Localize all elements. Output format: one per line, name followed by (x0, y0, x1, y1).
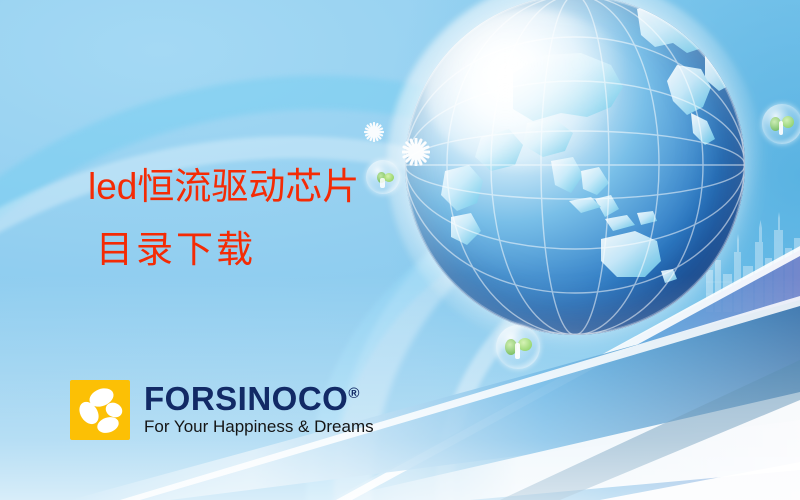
bubble-icon (496, 325, 540, 369)
headline-line-2: 目录下载 (0, 219, 430, 283)
brand-tagline: For Your Happiness & Dreams (144, 417, 374, 437)
four-petal-flower-icon (70, 380, 130, 440)
brand-text: FORSINOCO® For Your Happiness & Dreams (144, 380, 374, 437)
bubble-icon (762, 104, 800, 144)
banner-canvas: led恒流驱动芯片 目录下载 FORSINOCO® For Your Happi… (0, 0, 800, 500)
brand-wordmark: FORSINOCO® (144, 382, 374, 415)
headline-line-1: led恒流驱动芯片 (0, 155, 430, 219)
brand-logo: FORSINOCO® For Your Happiness & Dreams (70, 380, 374, 440)
headline-block: led恒流驱动芯片 目录下载 (0, 155, 430, 283)
sparkle-star-icon (364, 122, 384, 147)
brand-name: FORSINOCO (144, 380, 348, 417)
registered-trademark-icon: ® (348, 385, 360, 402)
